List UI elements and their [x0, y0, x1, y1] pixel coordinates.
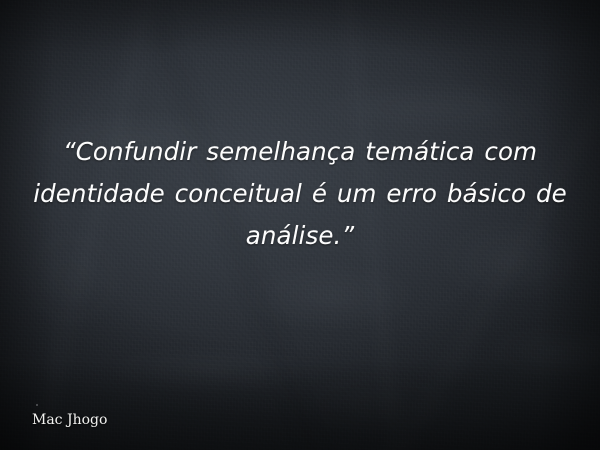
quote-block: “Confundir semelhança temática com ident…: [28, 131, 572, 257]
quote-card: “Confundir semelhança temática com ident…: [0, 0, 600, 450]
chalk-speck: [36, 404, 38, 406]
attribution-author-name: Mac Jhogo: [32, 411, 107, 429]
quote-text: “Confundir semelhança temática com ident…: [28, 131, 572, 257]
